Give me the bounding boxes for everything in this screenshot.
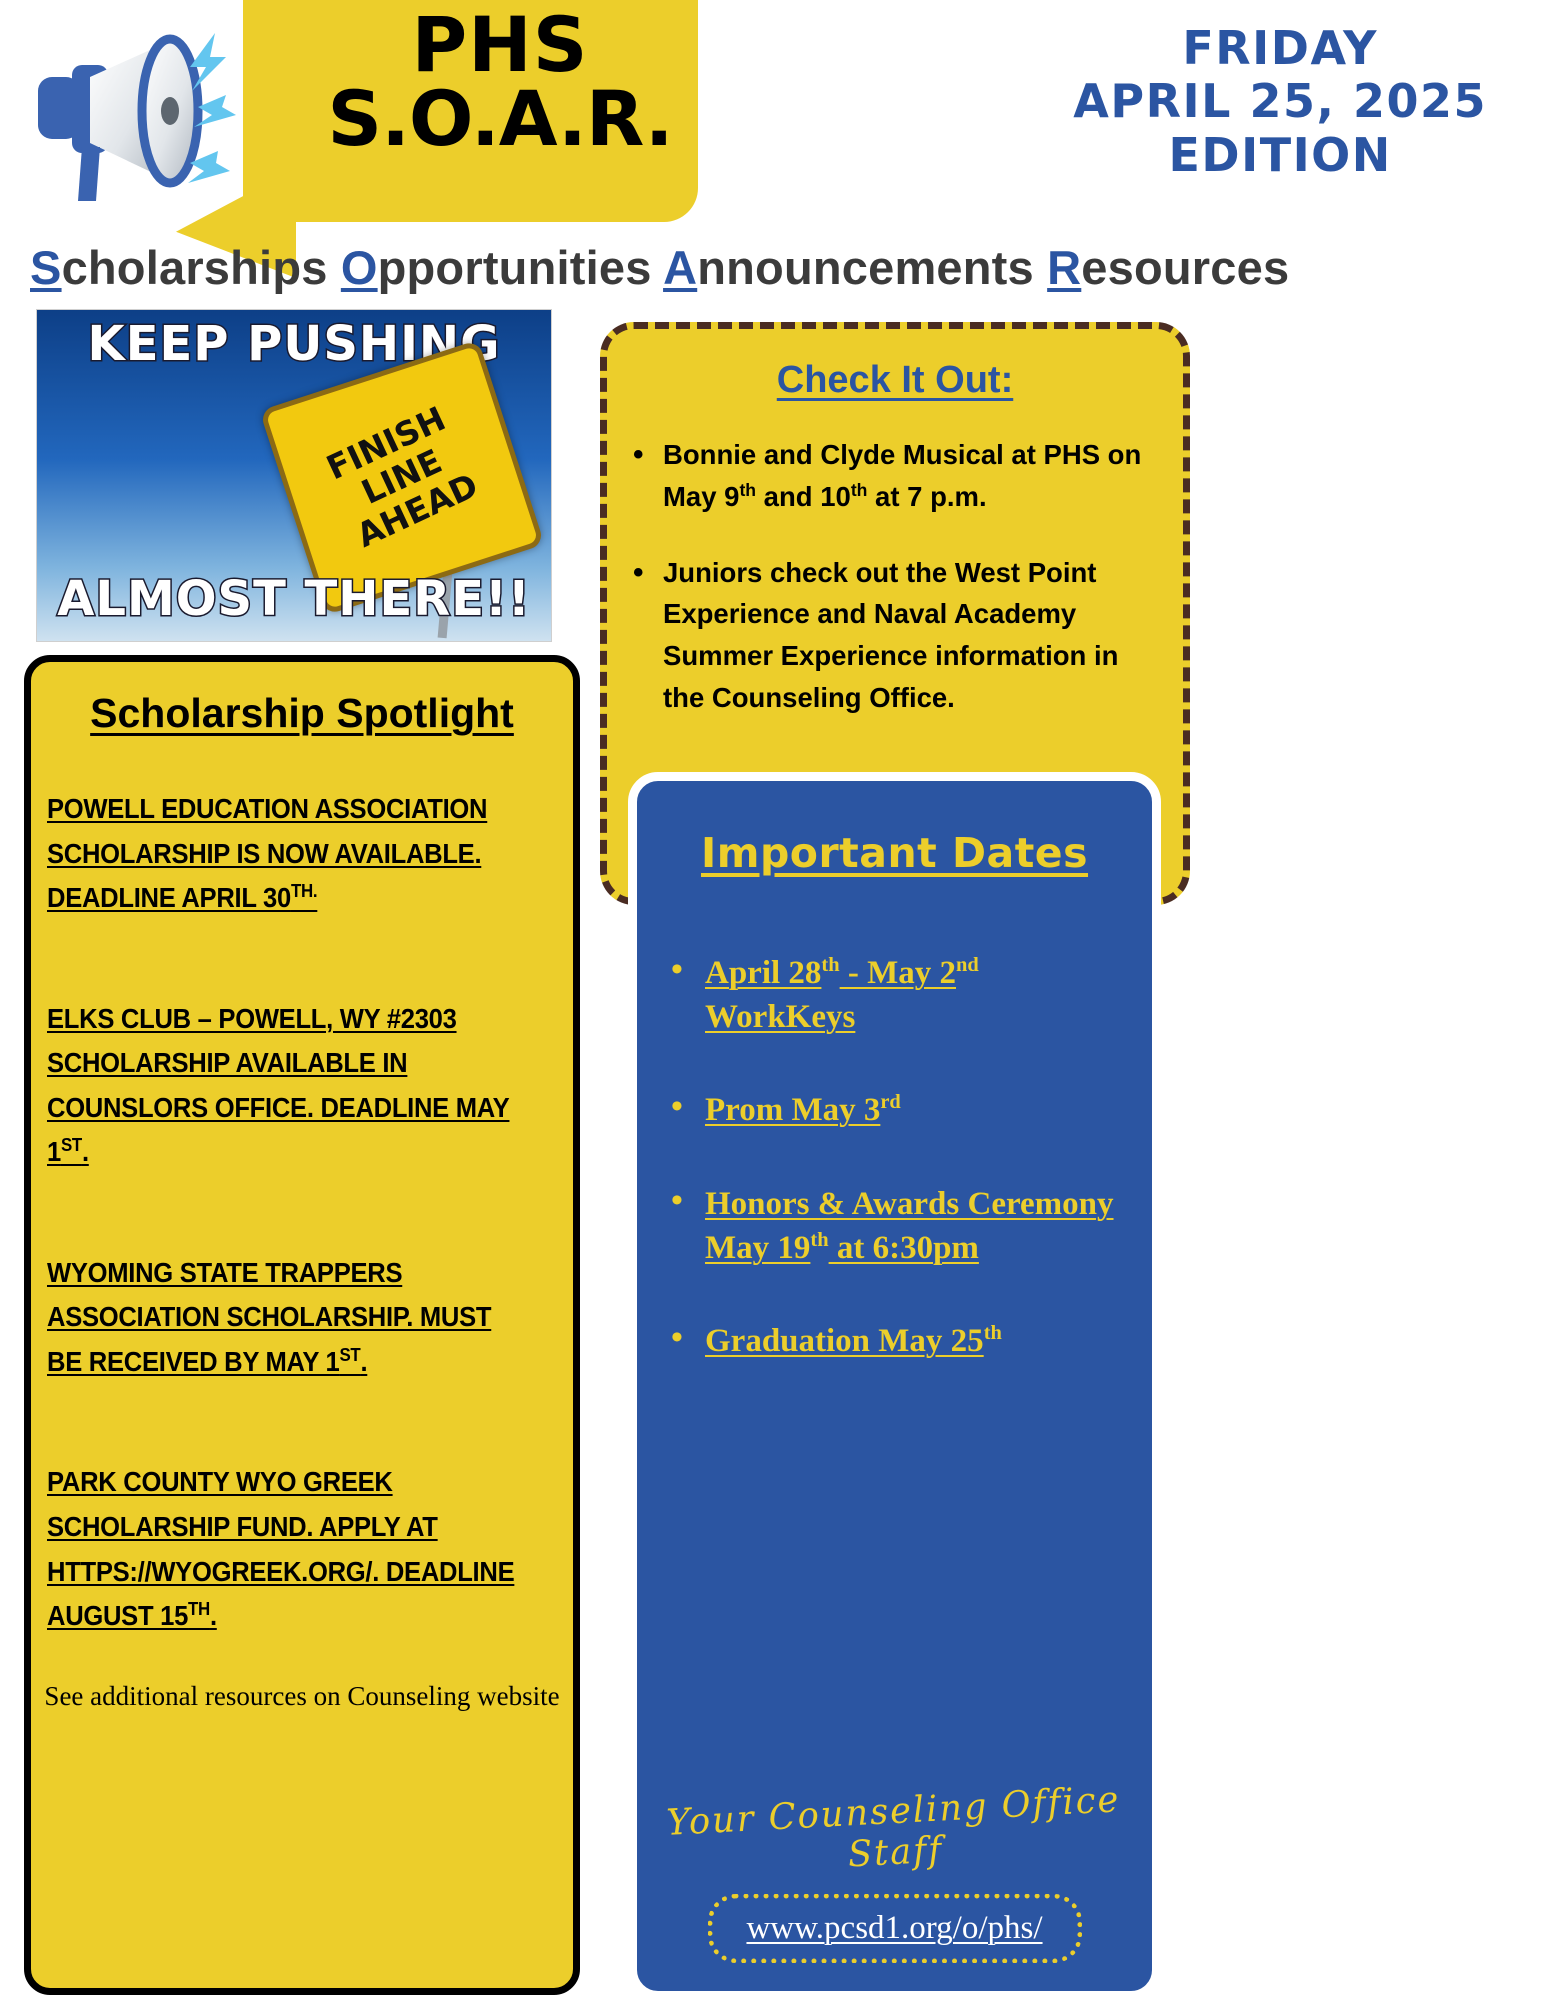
- list-item: POWELL EDUCATION ASSOCIATION SCHOLARSHIP…: [47, 787, 523, 921]
- acronym-a-rest: nnouncements: [697, 241, 1034, 294]
- acronym-line: Scholarships Opportunities Announcements…: [30, 240, 1520, 295]
- edition-line-2: APRIL 25, 2025: [1073, 75, 1487, 128]
- list-item: Graduation May 25th: [665, 1319, 1136, 1363]
- title-line-2: S.O.A.R.: [300, 82, 700, 156]
- list-item: WYOMING STATE TRAPPERS ASSOCIATION SCHOL…: [47, 1251, 523, 1385]
- list-item: ELKS CLUB – POWELL, WY #2303 SCHOLARSHIP…: [47, 997, 523, 1175]
- edition-date: FRIDAY APRIL 25, 2025 EDITION: [1073, 22, 1487, 182]
- list-item: Honors & Awards Ceremony May 19th at 6:3…: [665, 1182, 1136, 1270]
- acronym-o-cap: O: [341, 241, 378, 294]
- acronym-s-cap: S: [30, 241, 62, 294]
- acronym-o-rest: pportunities: [378, 241, 652, 294]
- scholarship-list: POWELL EDUCATION ASSOCIATION SCHOLARSHIP…: [47, 787, 559, 1639]
- soar-newsletter-page: PHS S.O.A.R. FRIDAY APRIL 25, 2025 EDITI…: [0, 0, 1545, 2000]
- edition-line-3: EDITION: [1073, 129, 1487, 182]
- scholarship-spotlight-card: Scholarship Spotlight POWELL EDUCATION A…: [24, 655, 580, 1995]
- spotlight-title: Scholarship Spotlight: [31, 690, 573, 737]
- list-item: Bonnie and Clyde Musical at PHS on May 9…: [625, 434, 1157, 518]
- edition-line-1: FRIDAY: [1073, 22, 1487, 75]
- website-url[interactable]: www.pcsd1.org/o/phs/: [746, 1910, 1042, 1946]
- title-line-1: PHS: [300, 8, 700, 82]
- check-it-out-title: Check It Out:: [607, 359, 1183, 402]
- important-dates-title: Important Dates: [637, 829, 1152, 877]
- important-dates-card: Important Dates April 28th - May 2nd Wor…: [628, 772, 1161, 2000]
- acronym-s-rest: cholarships: [62, 241, 328, 294]
- counseling-website-note: See additional resources on Counseling w…: [31, 1681, 573, 1712]
- page-title: PHS S.O.A.R.: [300, 8, 700, 157]
- important-dates-list: April 28th - May 2nd WorkKeys Prom May 3…: [665, 951, 1136, 1363]
- list-item: April 28th - May 2nd WorkKeys: [665, 951, 1136, 1039]
- list-item: Prom May 3rd: [665, 1088, 1136, 1132]
- check-it-out-list: Bonnie and Clyde Musical at PHS on May 9…: [625, 434, 1157, 719]
- megaphone-icon: [30, 15, 290, 225]
- acronym-a-cap: A: [663, 241, 697, 294]
- website-link-pill[interactable]: www.pcsd1.org/o/phs/: [707, 1894, 1081, 1963]
- counseling-signoff: Your Counseling Office Staff: [640, 1778, 1148, 1886]
- poster-bottom-text: ALMOST THERE!!: [37, 571, 551, 627]
- acronym-r-rest: esources: [1081, 241, 1289, 294]
- acronym-r-cap: R: [1047, 241, 1081, 294]
- list-item: PARK COUNTY WYO GREEK SCHOLARSHIP FUND. …: [47, 1460, 523, 1638]
- list-item: Juniors check out the West Point Experie…: [625, 552, 1157, 719]
- keep-pushing-image: KEEP PUSHING FINISH LINE AHEAD ALMOST TH…: [36, 309, 552, 642]
